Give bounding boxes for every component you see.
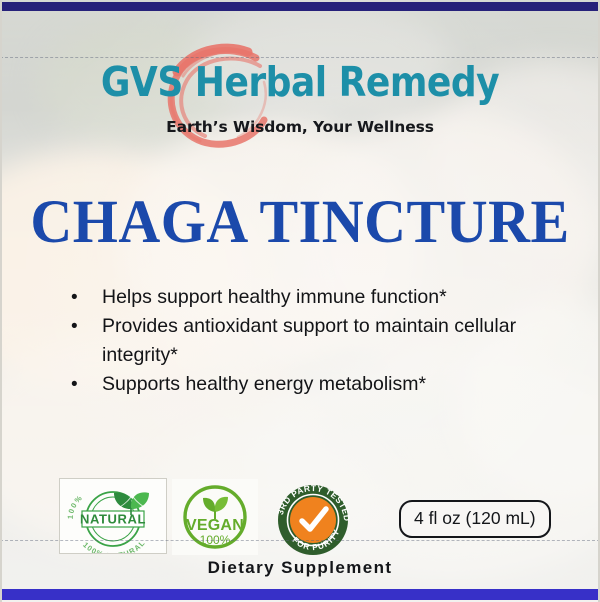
crop-guide-bottom <box>0 540 600 541</box>
benefit-text: Provides antioxidant support to maintain… <box>102 315 516 366</box>
product-title: CHAGA TINCTURE <box>0 191 600 252</box>
benefit-text: Supports healthy energy metabolism* <box>102 373 426 395</box>
net-volume-badge: 4 fl oz (120 mL) <box>399 500 551 538</box>
product-label: GVS Herbal Remedy Earth’s Wisdom, Your W… <box>0 0 600 602</box>
list-item: • Provides antioxidant support to mainta… <box>62 312 532 370</box>
leaf-icon <box>203 497 228 519</box>
brand-tagline: Earth’s Wisdom, Your Wellness <box>0 118 600 136</box>
benefits-list: • Helps support healthy immune function*… <box>62 283 532 399</box>
bullet-icon: • <box>71 370 78 399</box>
border-bottom <box>0 589 600 600</box>
benefit-text: Helps support healthy immune function* <box>102 286 447 308</box>
bullet-icon: • <box>71 312 78 341</box>
dietary-supplement-label: Dietary Supplement <box>0 558 600 578</box>
list-item: • Helps support healthy immune function* <box>62 283 532 312</box>
bullet-icon: • <box>71 283 78 312</box>
crop-guide-top <box>0 57 600 58</box>
brand-name: GVS Herbal Remedy <box>36 62 564 103</box>
natural-badge: NATURAL 100% 100% NATURAL <box>59 478 167 554</box>
list-item: • Supports healthy energy metabolism* <box>62 370 532 399</box>
natural-badge-main: NATURAL <box>80 512 146 527</box>
vegan-badge-main: VEGAN <box>186 517 244 534</box>
border-left <box>0 0 2 602</box>
third-party-tested-badge: 3RD PARTY TESTED FOR PURITY <box>272 484 354 556</box>
border-top <box>0 2 600 11</box>
vegan-badge: VEGAN 100% <box>172 479 258 555</box>
